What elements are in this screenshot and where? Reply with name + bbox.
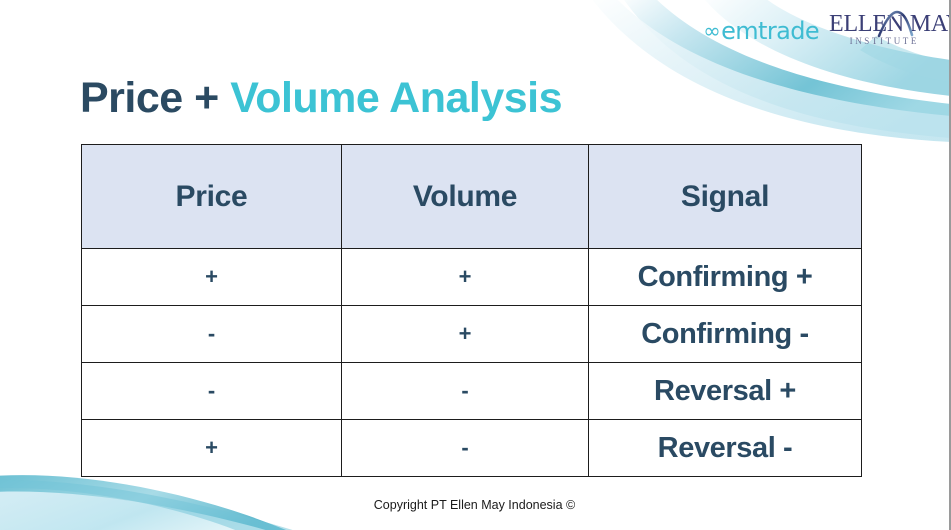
emtrade-wordmark: emtrade bbox=[721, 19, 819, 43]
brand-logo-bar: ∞ emtrade ELLEN MAY INSTITUTE bbox=[703, 11, 937, 49]
column-header-signal: Signal bbox=[589, 145, 862, 249]
table-row: + - Reversal - bbox=[82, 420, 862, 477]
table-row: - - Reversal + bbox=[82, 363, 862, 420]
copyright-footer: Copyright PT Ellen May Indonesia © bbox=[0, 498, 949, 512]
page-title: Price + Volume Analysis bbox=[80, 72, 562, 124]
table-row: - + Confirming - bbox=[82, 306, 862, 363]
cell-volume: + bbox=[342, 249, 589, 306]
cell-volume: + bbox=[342, 306, 589, 363]
cell-price: + bbox=[82, 420, 342, 477]
cell-signal: Reversal + bbox=[589, 363, 862, 420]
cell-signal: Confirming + bbox=[589, 249, 862, 306]
emtrade-logo: ∞ emtrade bbox=[703, 18, 819, 42]
swoosh-icon bbox=[875, 10, 915, 38]
table-header-row: Price Volume Signal bbox=[82, 145, 862, 249]
cell-volume: - bbox=[342, 420, 589, 477]
slide-canvas: ∞ emtrade ELLEN MAY INSTITUTE Price + Vo… bbox=[0, 0, 951, 530]
price-volume-table: Price Volume Signal + + Confirming + - +… bbox=[81, 144, 862, 477]
cell-volume: - bbox=[342, 363, 589, 420]
column-header-volume: Volume bbox=[342, 145, 589, 249]
cell-price: + bbox=[82, 249, 342, 306]
cell-price: - bbox=[82, 363, 342, 420]
cell-price: - bbox=[82, 306, 342, 363]
cell-signal: Confirming - bbox=[589, 306, 862, 363]
institute-subtitle: INSTITUTE bbox=[829, 36, 937, 46]
title-segment-volume: Volume Analysis bbox=[230, 74, 562, 122]
cell-signal: Reversal - bbox=[589, 420, 862, 477]
ellen-may-institute-logo: ELLEN MAY INSTITUTE bbox=[829, 11, 937, 49]
title-segment-price: Price + bbox=[80, 74, 230, 122]
infinity-icon: ∞ bbox=[703, 21, 720, 42]
column-header-price: Price bbox=[82, 145, 342, 249]
table-row: + + Confirming + bbox=[82, 249, 862, 306]
price-volume-table-wrapper: Price Volume Signal + + Confirming + - +… bbox=[81, 144, 861, 477]
